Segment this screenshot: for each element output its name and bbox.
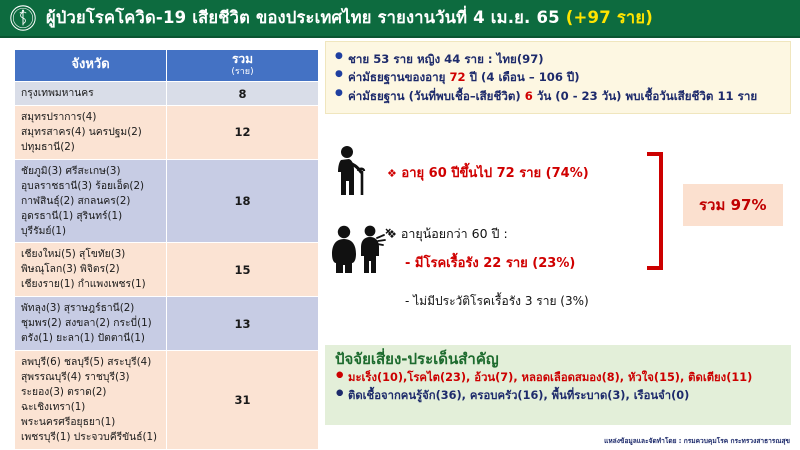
summary-box: ชาย 53 ราย หญิง 44 ราย : ไทย(97) ค่ามัธย… [325,41,791,114]
column-header-province: จังหวัด [15,50,167,82]
province-total-cell: 31 [167,350,319,449]
table-row: สมุทรปราการ(4) สมุทรสาคร(4) นครปฐม(2) ปท… [15,106,319,160]
source-attribution: แหล่งข้อมูลและจัดทำโดย : กรมควบคุมโรค กร… [604,435,790,446]
table-row: ชัยภูมิ(3) ศรีสะเกษ(3) อุบลราชธานี(3) ร้… [15,159,319,243]
province-names-cell: สมุทรปราการ(4) สมุทรสาคร(4) นครปฐม(2) ปท… [15,106,167,160]
risk-factors-box: ปัจจัยเสี่ยง-ประเด็นสำคัญ มะเร็ง(10),โรค… [325,345,791,425]
table-row: พัทลุง(3) สุราษฎร์ธานี(2) ชุมพร(2) สงขลา… [15,297,319,351]
risk-item-exposure: ติดเชื้อจากคนรู้จัก(36), ครอบครัว(16), พ… [335,389,783,404]
province-total-cell: 13 [167,297,319,351]
age-chronic-line: - มีโรคเรื้อรัง 22 ราย (23%) [405,252,575,273]
table-row: กรุงเทพมหานคร8 [15,82,319,106]
infographic-page: ผู้ป่วยโรคโควิด-19 เสียชีวิต ของประเทศไท… [0,0,800,450]
table-body: กรุงเทพมหานคร8สมุทรปราการ(4) สมุทรสาคร(4… [15,82,319,449]
summary-item-median-age: ค่ามัธยฐานของอายุ 72 ปี (4 เดือน – 106 ป… [334,70,784,85]
risk-factors-list: มะเร็ง(10),โรคไต(23), อ้วน(7), หลอดเลือด… [335,371,783,403]
median-age-range: ปี (4 เดือน – 106 ปี) [466,70,580,84]
median-days-label: ค่ามัธยฐาน (วันที่พบเชื้อ–เสียชีวิต) [348,89,525,103]
moph-caduceus-logo [10,5,36,31]
age-younger-text: อายุน้อยกว่า 60 ปี : [401,226,508,241]
province-names-cell: เชียงใหม่(5) สุโขทัย(3) พิษณุโลก(3) พิจิ… [15,243,167,297]
summary-sex-text: ชาย 53 ราย หญิง 44 ราย : ไทย(97) [348,52,544,66]
risk-factors-title: ปัจจัยเสี่ยง-ประเด็นสำคัญ [335,350,783,368]
page-title-delta: (+97 ราย) [566,8,653,27]
province-names-cell: ชัยภูมิ(3) ศรีสะเกษ(3) อุบลราชธานี(3) ร้… [15,159,167,243]
table-row: ลพบุรี(6) ชลบุรี(5) สระบุรี(4) สุพรรณบุร… [15,350,319,449]
province-total-cell: 18 [167,159,319,243]
median-days-value: 6 [525,89,533,103]
diamond-bullet-icon: ❖ [387,228,397,241]
column-header-total-label: รวม [232,52,253,66]
diamond-bullet-icon: ❖ [387,167,397,180]
total-percentage-badge: รวม 97% [683,184,783,226]
table-header-row: จังหวัด รวม (ราย) [15,50,319,82]
province-names-cell: พัทลุง(3) สุราษฎร์ธานี(2) ชุมพร(2) สงขลา… [15,297,167,351]
age-younger-line: ❖ อายุน้อยกว่า 60 ปี : [387,224,508,244]
province-table-container: จังหวัด รวม (ราย) กรุงเทพมหานคร8สมุทรปรา… [14,49,319,450]
median-days-range: วัน (0 - 23 วัน) พบเชื้อวันเสียชีวิต 11 … [533,89,757,103]
elderly-person-with-cane-icon [330,145,374,197]
province-table: จังหวัด รวม (ราย) กรุงเทพมหานคร8สมุทรปรา… [14,49,319,450]
page-title-main: ผู้ป่วยโรคโควิด-19 เสียชีวิต ของประเทศไท… [46,8,560,27]
age-no-chronic-line: - ไม่มีประวัติโรคเรื้อรัง 3 ราย (3%) [405,292,589,311]
age-elderly-line: ❖ อายุ 60 ปีขึ้นไป 72 ราย (74%) [387,162,589,183]
risk-item-comorbidities: มะเร็ง(10),โรคไต(23), อ้วน(7), หลอดเลือด… [335,371,783,386]
column-header-total: รวม (ราย) [167,50,319,82]
province-names-cell: ลพบุรี(6) ชลบุรี(5) สระบุรี(4) สุพรรณบุร… [15,350,167,449]
province-total-cell: 12 [167,106,319,160]
table-header: จังหวัด รวม (ราย) [15,50,319,82]
summary-item-median-days: ค่ามัธยฐาน (วันที่พบเชื้อ–เสียชีวิต) 6 ว… [334,89,784,104]
summary-list: ชาย 53 ราย หญิง 44 ราย : ไทย(97) ค่ามัธย… [334,52,784,104]
column-header-total-unit: (ราย) [169,67,316,77]
page-header: ผู้ป่วยโรคโควิด-19 เสียชีวิต ของประเทศไท… [0,0,800,38]
page-title: ผู้ป่วยโรคโควิด-19 เสียชีวิต ของประเทศไท… [46,5,653,31]
province-total-cell: 8 [167,82,319,106]
province-names-cell: กรุงเทพมหานคร [15,82,167,106]
table-row: เชียงใหม่(5) สุโขทัย(3) พิษณุโลก(3) พิจิ… [15,243,319,297]
summary-panel: ชาย 53 ราย หญิง 44 ราย : ไทย(97) ค่ามัธย… [325,41,791,114]
province-total-cell: 15 [167,243,319,297]
grouping-bracket [647,152,663,270]
age-elderly-text: อายุ 60 ปีขึ้นไป 72 ราย (74%) [401,166,588,181]
age-breakdown-section: ❖ อายุ 60 ปีขึ้นไป 72 ราย (74%) ❖ อายุน้… [325,140,791,340]
obese-and-coughing-person-icon [328,225,392,275]
median-age-label: ค่ามัธยฐานของอายุ [348,70,449,84]
summary-item-sex-nationality: ชาย 53 ราย หญิง 44 ราย : ไทย(97) [334,52,784,67]
median-age-value: 72 [449,70,465,84]
